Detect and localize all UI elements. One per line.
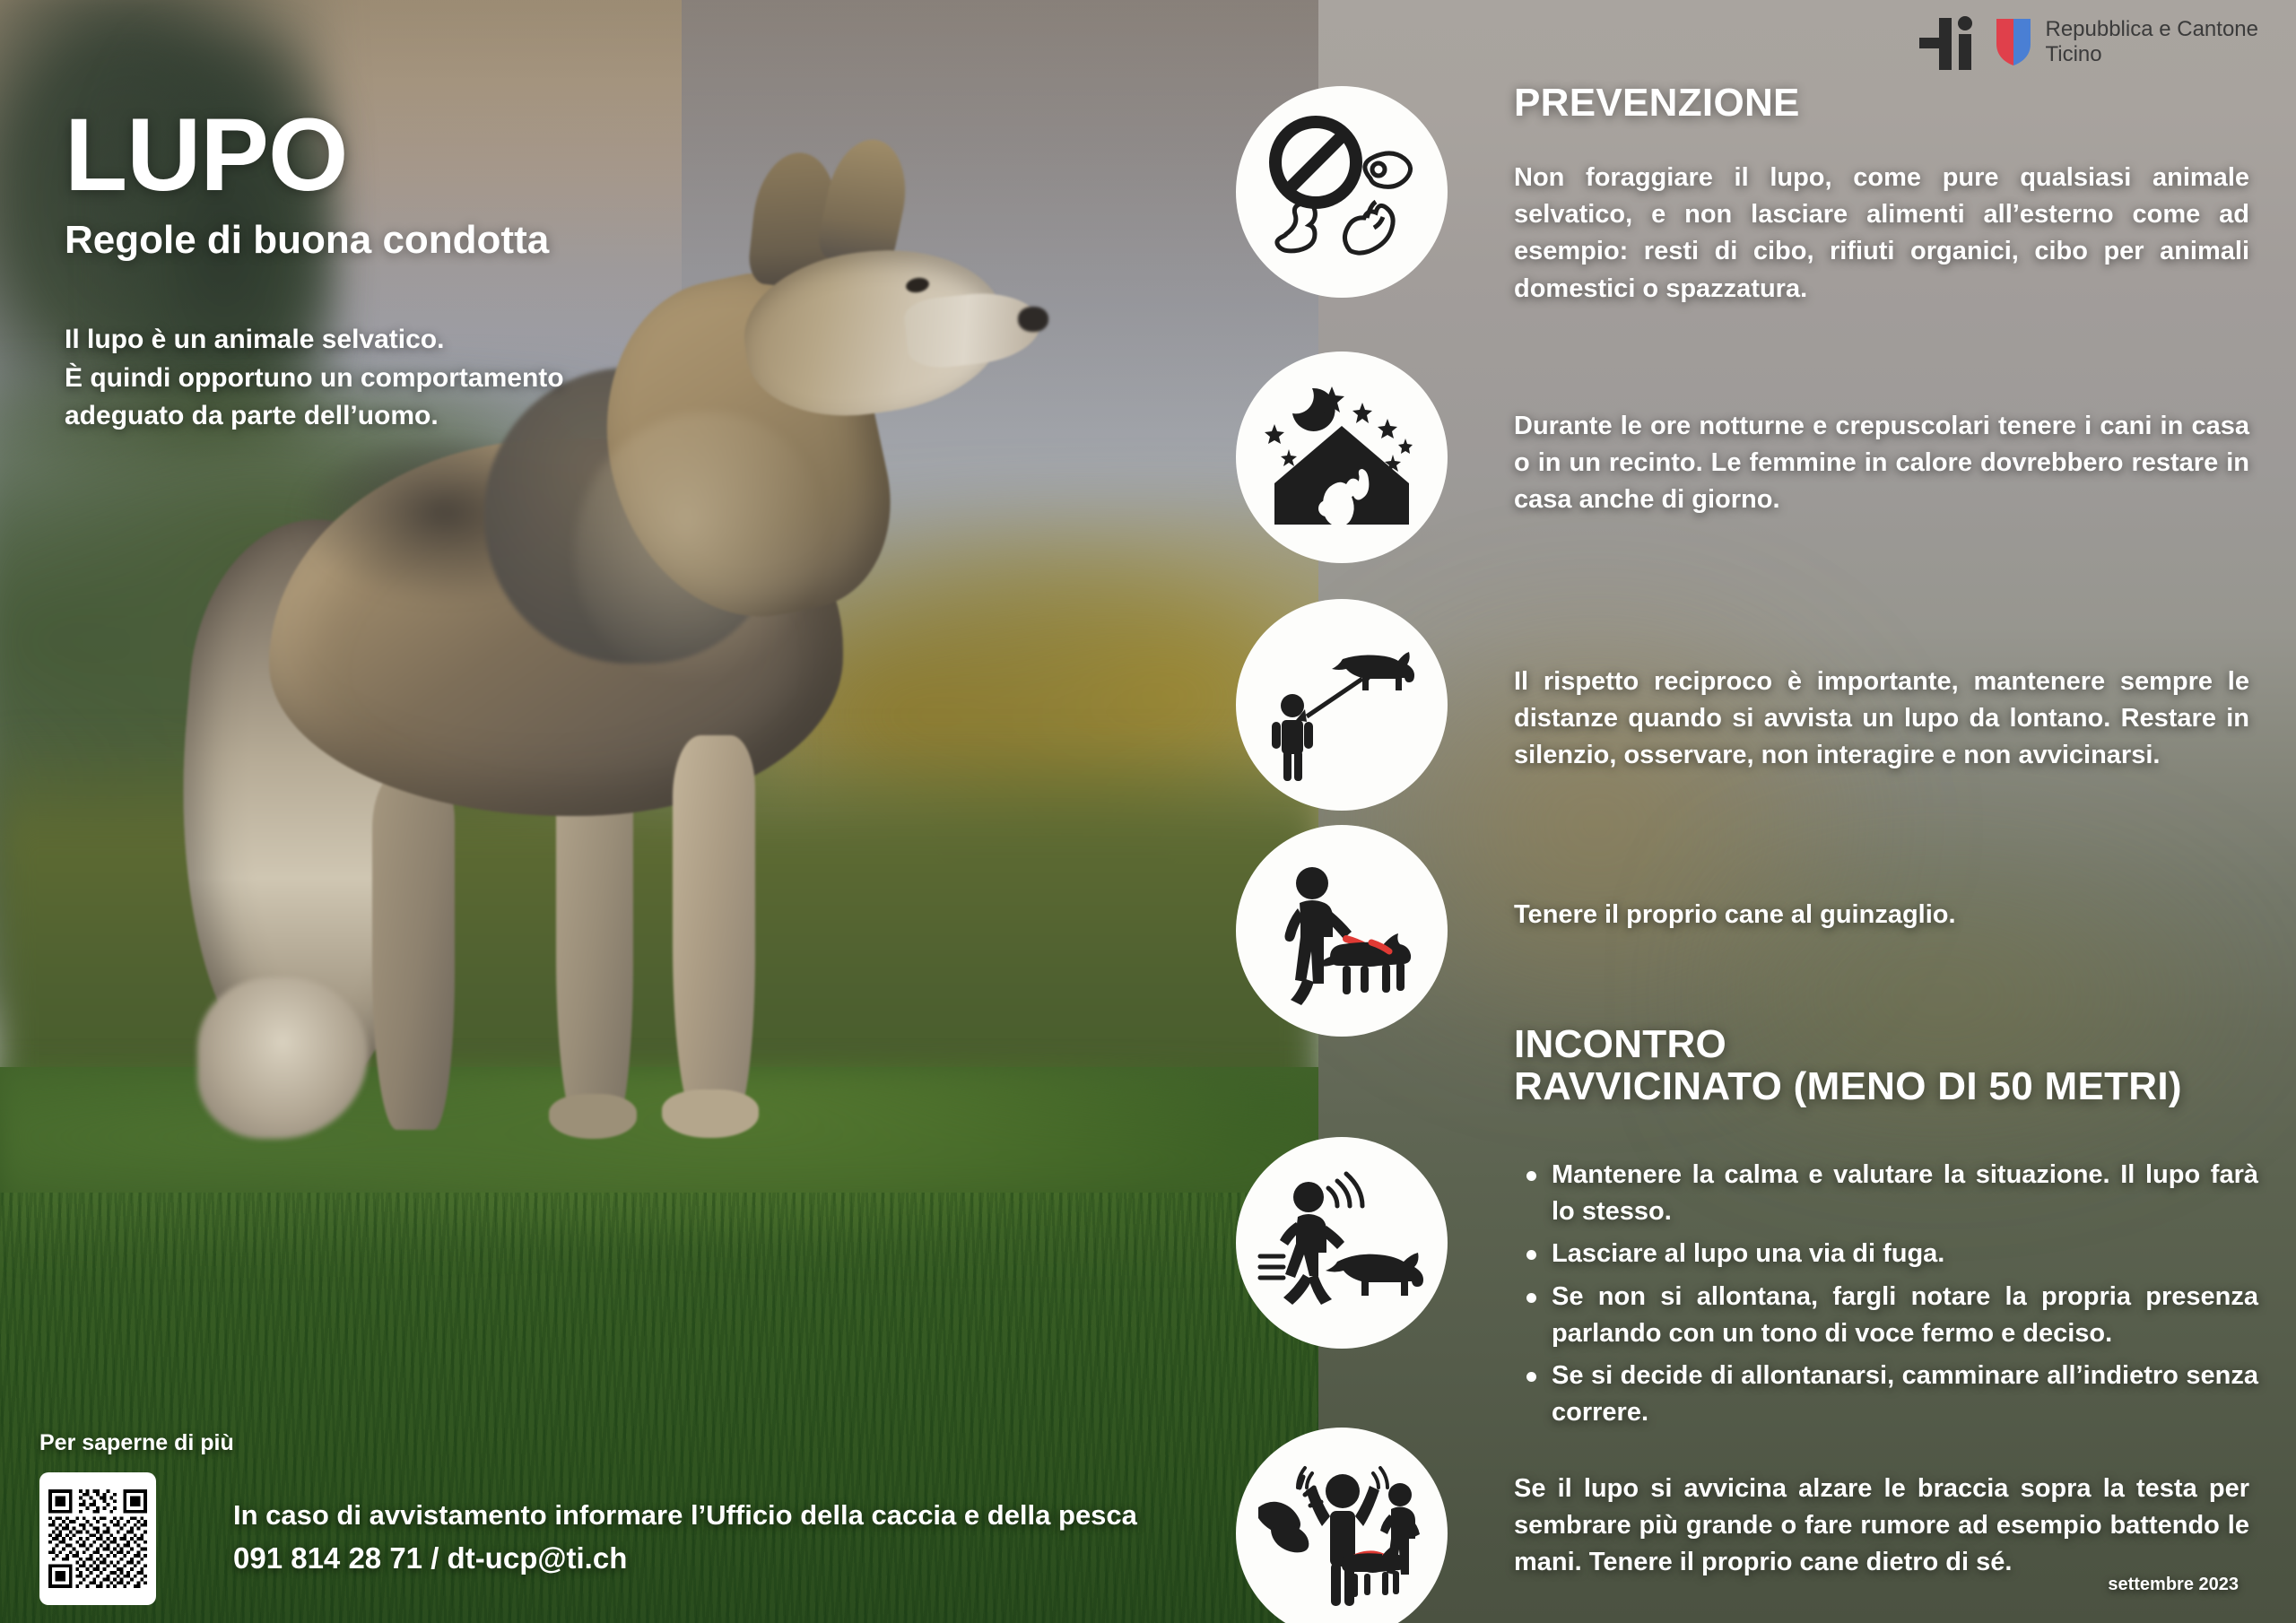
list-item: Mantenere la calma e valutare la situazi… [1552,1157,2258,1230]
cantone-ticino-logo: Repubblica e Cantone Ticino [1916,14,2258,70]
page-title: LUPO [65,106,944,204]
keep-distance-icon [1236,599,1448,811]
footer-row: In caso di avvistamento informare l’Uffi… [39,1472,1137,1605]
poster-root: Repubblica e Cantone Ticino LUPO Regole … [0,0,2296,1623]
section-paragraph-prevenzione: Non foraggiare il lupo, come pure qualsi… [1514,160,2249,308]
section-heading-incontro-line-1: INCONTRO [1514,1022,1726,1066]
footer-contact-text: In caso di avvistamento informare l’Uffi… [233,1498,1137,1578]
dog-house-night-icon [1236,352,1448,563]
logo-wordmark-text: Repubblica e Cantone Ticino [2045,17,2258,68]
intro-line-1: Il lupo è un animale selvatico. [65,321,746,360]
ti-wordmark-icon [1916,14,1980,70]
section-heading-prevenzione: PREVENZIONE [1514,82,2249,125]
section-paragraph-braccia: Se il lupo si avvicina alzare le braccia… [1514,1471,2249,1582]
wolf-leg-front [673,735,755,1121]
section-paragraph-notte: Durante le ore notturne e crepuscolari t… [1514,408,2249,519]
right-content-column: PREVENZIONE Non foraggiare il lupo, come… [1514,0,2258,1623]
section-paragraph-guinzaglio: Tenere il proprio cane al guinzaglio. [1514,897,2249,933]
logo-line-2: Ticino [2045,42,2258,67]
wolf-nose [1018,307,1048,332]
wolf-tail-tip [197,977,368,1139]
incontro-bullet-list: Mantenere la calma e valutare la situazi… [1514,1157,2258,1436]
intro-line-3: adeguato da parte dell’uomo. [65,397,746,436]
list-item: Lasciare al lupo una via di fuga. [1552,1236,2258,1272]
no-feeding-glyph [1257,107,1427,277]
qr-code[interactable] [39,1472,156,1605]
publication-date: settembre 2023 [2108,1575,2239,1595]
raise-arms-icon [1236,1428,1448,1623]
ticino-shield-icon [1996,19,2031,65]
more-info-label: Per saperne di più [39,1430,1137,1456]
title-block: LUPO Regole di buona condotta [65,106,944,263]
contact-line: 091 814 28 71 / dt-ucp@ti.ch [233,1539,1137,1579]
section-paragraph-distanza: Il rispetto reciproco è importante, mant… [1514,664,2249,775]
footer-block: Per saperne di più [39,1430,1137,1605]
wolf-paw-front [662,1089,759,1138]
icon-column [1236,0,1451,1623]
report-line: In caso di avvistamento informare l’Uffi… [233,1498,1137,1533]
wolf-paw-mid [549,1094,637,1139]
dog-house-night-glyph [1257,372,1427,542]
section-heading-incontro-line-2: RAVVICINATO (MENO DI 50 METRI) [1514,1064,2182,1108]
page-subtitle: Regole di buona condotta [65,219,944,262]
wolf-subject [188,143,1040,1282]
wolf-leg-rear [372,771,455,1130]
dog-on-leash-icon [1236,825,1448,1037]
back-away-icon [1236,1137,1448,1349]
no-feeding-icon [1236,86,1448,298]
logo-line-1: Repubblica e Cantone [2045,17,2258,42]
list-item: Se non si allontana, fargli notare la pr… [1552,1279,2258,1352]
raise-arms-glyph [1257,1448,1427,1619]
keep-distance-glyph [1257,620,1427,790]
intro-text: Il lupo è un animale selvatico. È quindi… [65,321,746,436]
section-heading-incontro: INCONTRO RAVVICINATO (MENO DI 50 METRI) [1514,1024,2296,1107]
list-item: Se si decide di allontanarsi, camminare … [1552,1358,2258,1431]
intro-line-2: È quindi opportuno un comportamento [65,360,746,398]
dog-on-leash-glyph [1257,846,1427,1016]
back-away-glyph [1257,1158,1427,1328]
qr-code-glyph [48,1481,147,1596]
